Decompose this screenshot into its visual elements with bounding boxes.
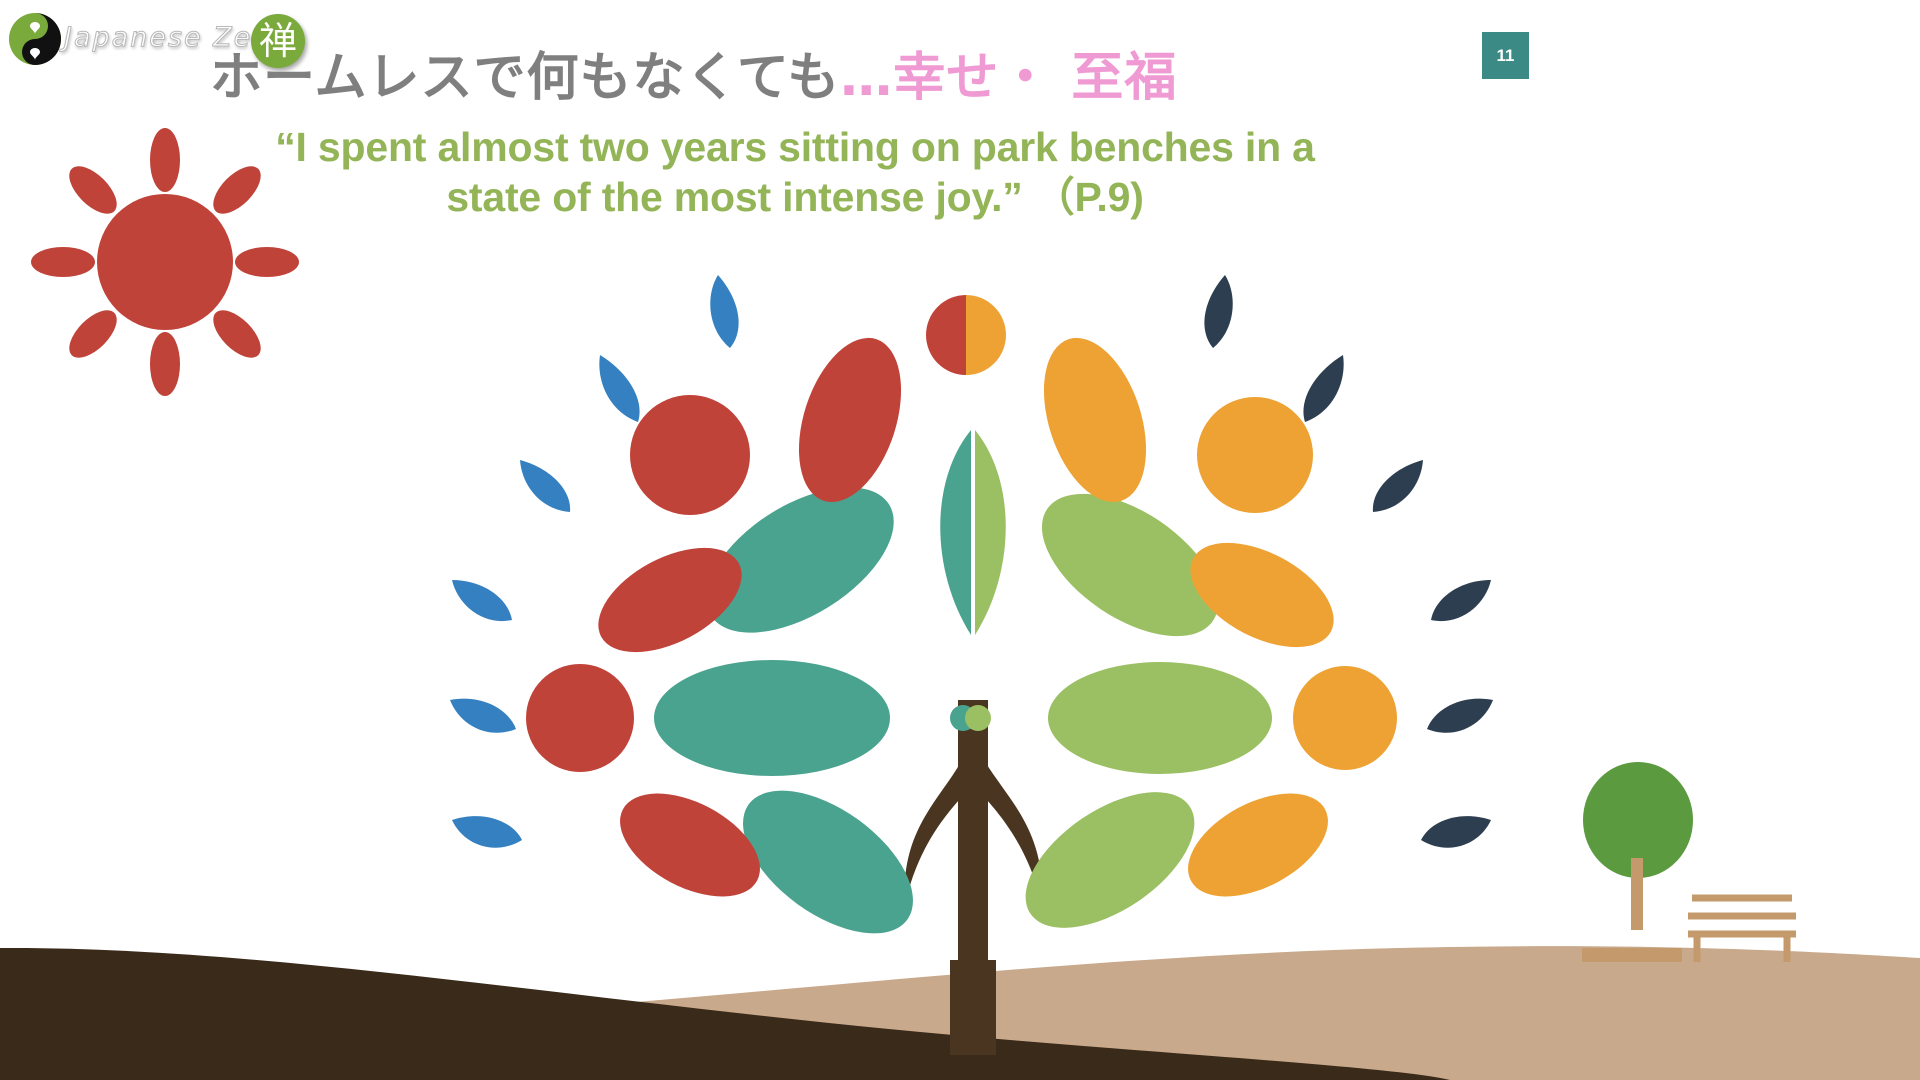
tree-trunk (905, 700, 1043, 1055)
tree-top-circles (926, 295, 1006, 375)
slide-canvas: Japanese Zen 禅 11 ホームレスで何もなくても…幸せ・ 至福 “I… (0, 0, 1920, 1080)
quote-line-2: state of the most intense joy.” （P.9) (150, 172, 1440, 222)
tree-center-leaves (940, 430, 1006, 731)
quote-line-1: “I spent almost two years sitting on par… (150, 122, 1440, 172)
yin-yang-icon (8, 12, 62, 66)
park-bench-icon (1688, 898, 1796, 962)
title-japanese-pink: 幸せ・ 至福 (893, 48, 1177, 108)
title-japanese-gray: ホームレスで何もなくても (210, 48, 840, 108)
page-title: ホームレスで何もなくても…幸せ・ 至福 (210, 52, 1470, 104)
small-tree-icon (1582, 762, 1693, 962)
quote-text: “I spent almost two years sitting on par… (150, 122, 1440, 222)
title-ellipsis: … (840, 48, 893, 108)
slide-number-badge: 11 (1482, 32, 1529, 79)
